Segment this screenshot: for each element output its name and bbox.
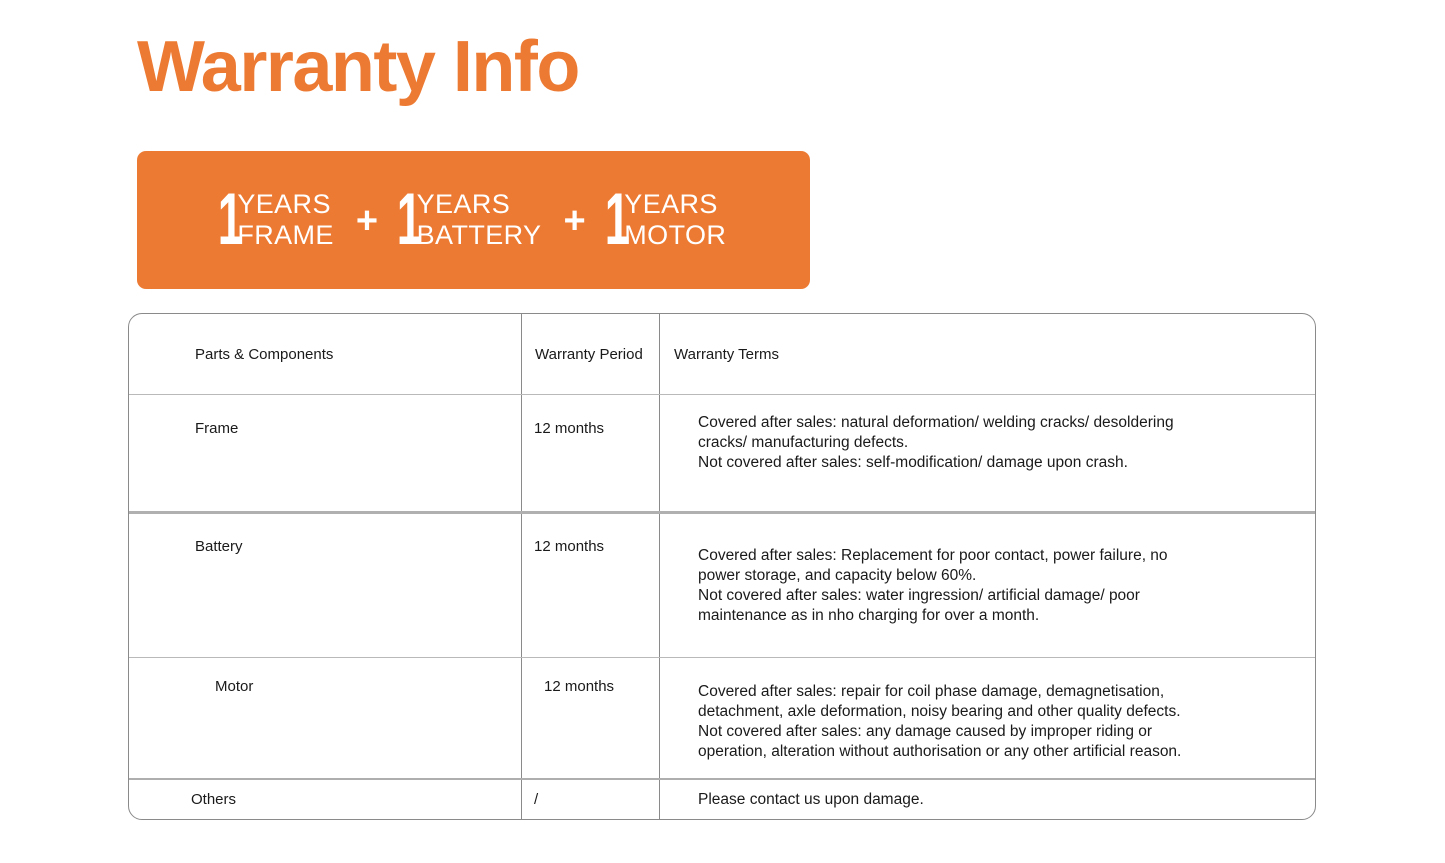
warranty-summary-banner: 1 YEARS FRAME + 1 YEARS BATTERY + 1 YEAR… [137, 151, 810, 289]
header-label-period: Warranty Period [532, 346, 643, 363]
header-cell-terms: Warranty Terms [660, 314, 1315, 394]
plus-separator-2: + [563, 202, 585, 240]
frame-years-label: YEARS FRAME [237, 189, 334, 251]
motor-years-number: 1 [604, 187, 629, 253]
row-others-part-name: Others [139, 791, 236, 808]
row-motor-terms-text: Covered after sales: repair for coil pha… [698, 682, 1181, 762]
row-battery-terms-cell: Covered after sales: Replacement for poo… [660, 514, 1315, 657]
row-battery-terms-line-2: power storage, and capacity below 60%. [698, 566, 1168, 586]
row-battery-period-cell: 12 months [522, 514, 660, 657]
row-frame-parts-cell: Frame [129, 395, 522, 511]
row-frame-period-cell: 12 months [522, 395, 660, 511]
header-label-terms: Warranty Terms [674, 346, 779, 363]
row-frame-terms-line-2: cracks/ manufacturing defects. [698, 433, 1174, 453]
row-others-parts-cell: Others [129, 780, 522, 819]
row-others-terms-cell: Please contact us upon damage. [660, 780, 1315, 819]
row-motor-terms-line-2: detachment, axle deformation, noisy bear… [698, 702, 1181, 722]
row-battery-terms-line-4: maintenance as in nho charging for over … [698, 606, 1168, 626]
motor-years-label: YEARS MOTOR [624, 189, 726, 251]
row-frame-terms-text: Covered after sales: natural deformation… [698, 413, 1174, 473]
row-motor-period-cell: 12 months [522, 658, 660, 778]
header-cell-parts: Parts & Components [129, 314, 522, 394]
banner-content: 1 YEARS FRAME + 1 YEARS BATTERY + 1 YEAR… [221, 187, 727, 253]
motor-part-label: MOTOR [624, 220, 726, 251]
warranty-badge-battery: 1 YEARS BATTERY [400, 187, 541, 253]
row-frame-terms-line-1: Covered after sales: natural deformation… [698, 413, 1174, 433]
row-others-terms-line-1: Please contact us upon damage. [698, 790, 924, 810]
row-others-terms-text: Please contact us upon damage. [698, 790, 924, 810]
battery-unit-label: YEARS [417, 189, 542, 220]
row-motor-terms-line-4: operation, alteration without authorisat… [698, 742, 1181, 762]
motor-unit-label: YEARS [624, 189, 726, 220]
table-row: Others / Please contact us upon damage. [129, 778, 1315, 819]
warranty-badge-motor: 1 YEARS MOTOR [608, 187, 727, 253]
row-battery-terms-line-3: Not covered after sales: water ingressio… [698, 586, 1168, 606]
plus-separator-1: + [356, 202, 378, 240]
row-battery-terms-line-1: Covered after sales: Replacement for poo… [698, 546, 1168, 566]
warranty-table: Parts & Components Warranty Period Warra… [128, 313, 1316, 820]
row-battery-terms-text: Covered after sales: Replacement for poo… [698, 546, 1168, 626]
row-battery-period-value: 12 months [532, 538, 604, 555]
battery-years-label: YEARS BATTERY [417, 189, 542, 251]
row-motor-part-name: Motor [139, 678, 253, 695]
table-row: Battery 12 months Covered after sales: R… [129, 511, 1315, 657]
warranty-badge-frame: 1 YEARS FRAME [221, 187, 334, 253]
row-motor-period-value: 12 months [532, 678, 614, 695]
table-header-row: Parts & Components Warranty Period Warra… [129, 314, 1315, 394]
row-battery-part-name: Battery [139, 538, 243, 555]
row-others-period-cell: / [522, 780, 660, 819]
row-frame-terms-line-3: Not covered after sales: self-modificati… [698, 453, 1174, 473]
page-title: Warranty Info [137, 27, 579, 107]
row-motor-parts-cell: Motor [129, 658, 522, 778]
frame-years-number: 1 [217, 187, 242, 253]
row-motor-terms-line-1: Covered after sales: repair for coil pha… [698, 682, 1181, 702]
row-motor-terms-cell: Covered after sales: repair for coil pha… [660, 658, 1315, 778]
header-cell-period: Warranty Period [522, 314, 660, 394]
table-row: Motor 12 months Covered after sales: rep… [129, 657, 1315, 778]
table-row: Frame 12 months Covered after sales: nat… [129, 394, 1315, 511]
header-label-parts: Parts & Components [139, 346, 333, 363]
row-frame-period-value: 12 months [532, 420, 604, 437]
row-frame-terms-cell: Covered after sales: natural deformation… [660, 395, 1315, 511]
frame-part-label: FRAME [237, 220, 334, 251]
battery-part-label: BATTERY [417, 220, 542, 251]
row-motor-terms-line-3: Not covered after sales: any damage caus… [698, 722, 1181, 742]
row-battery-parts-cell: Battery [129, 514, 522, 657]
frame-unit-label: YEARS [237, 189, 334, 220]
row-frame-part-name: Frame [139, 420, 238, 437]
battery-years-number: 1 [397, 187, 422, 253]
row-others-period-value: / [532, 791, 538, 808]
